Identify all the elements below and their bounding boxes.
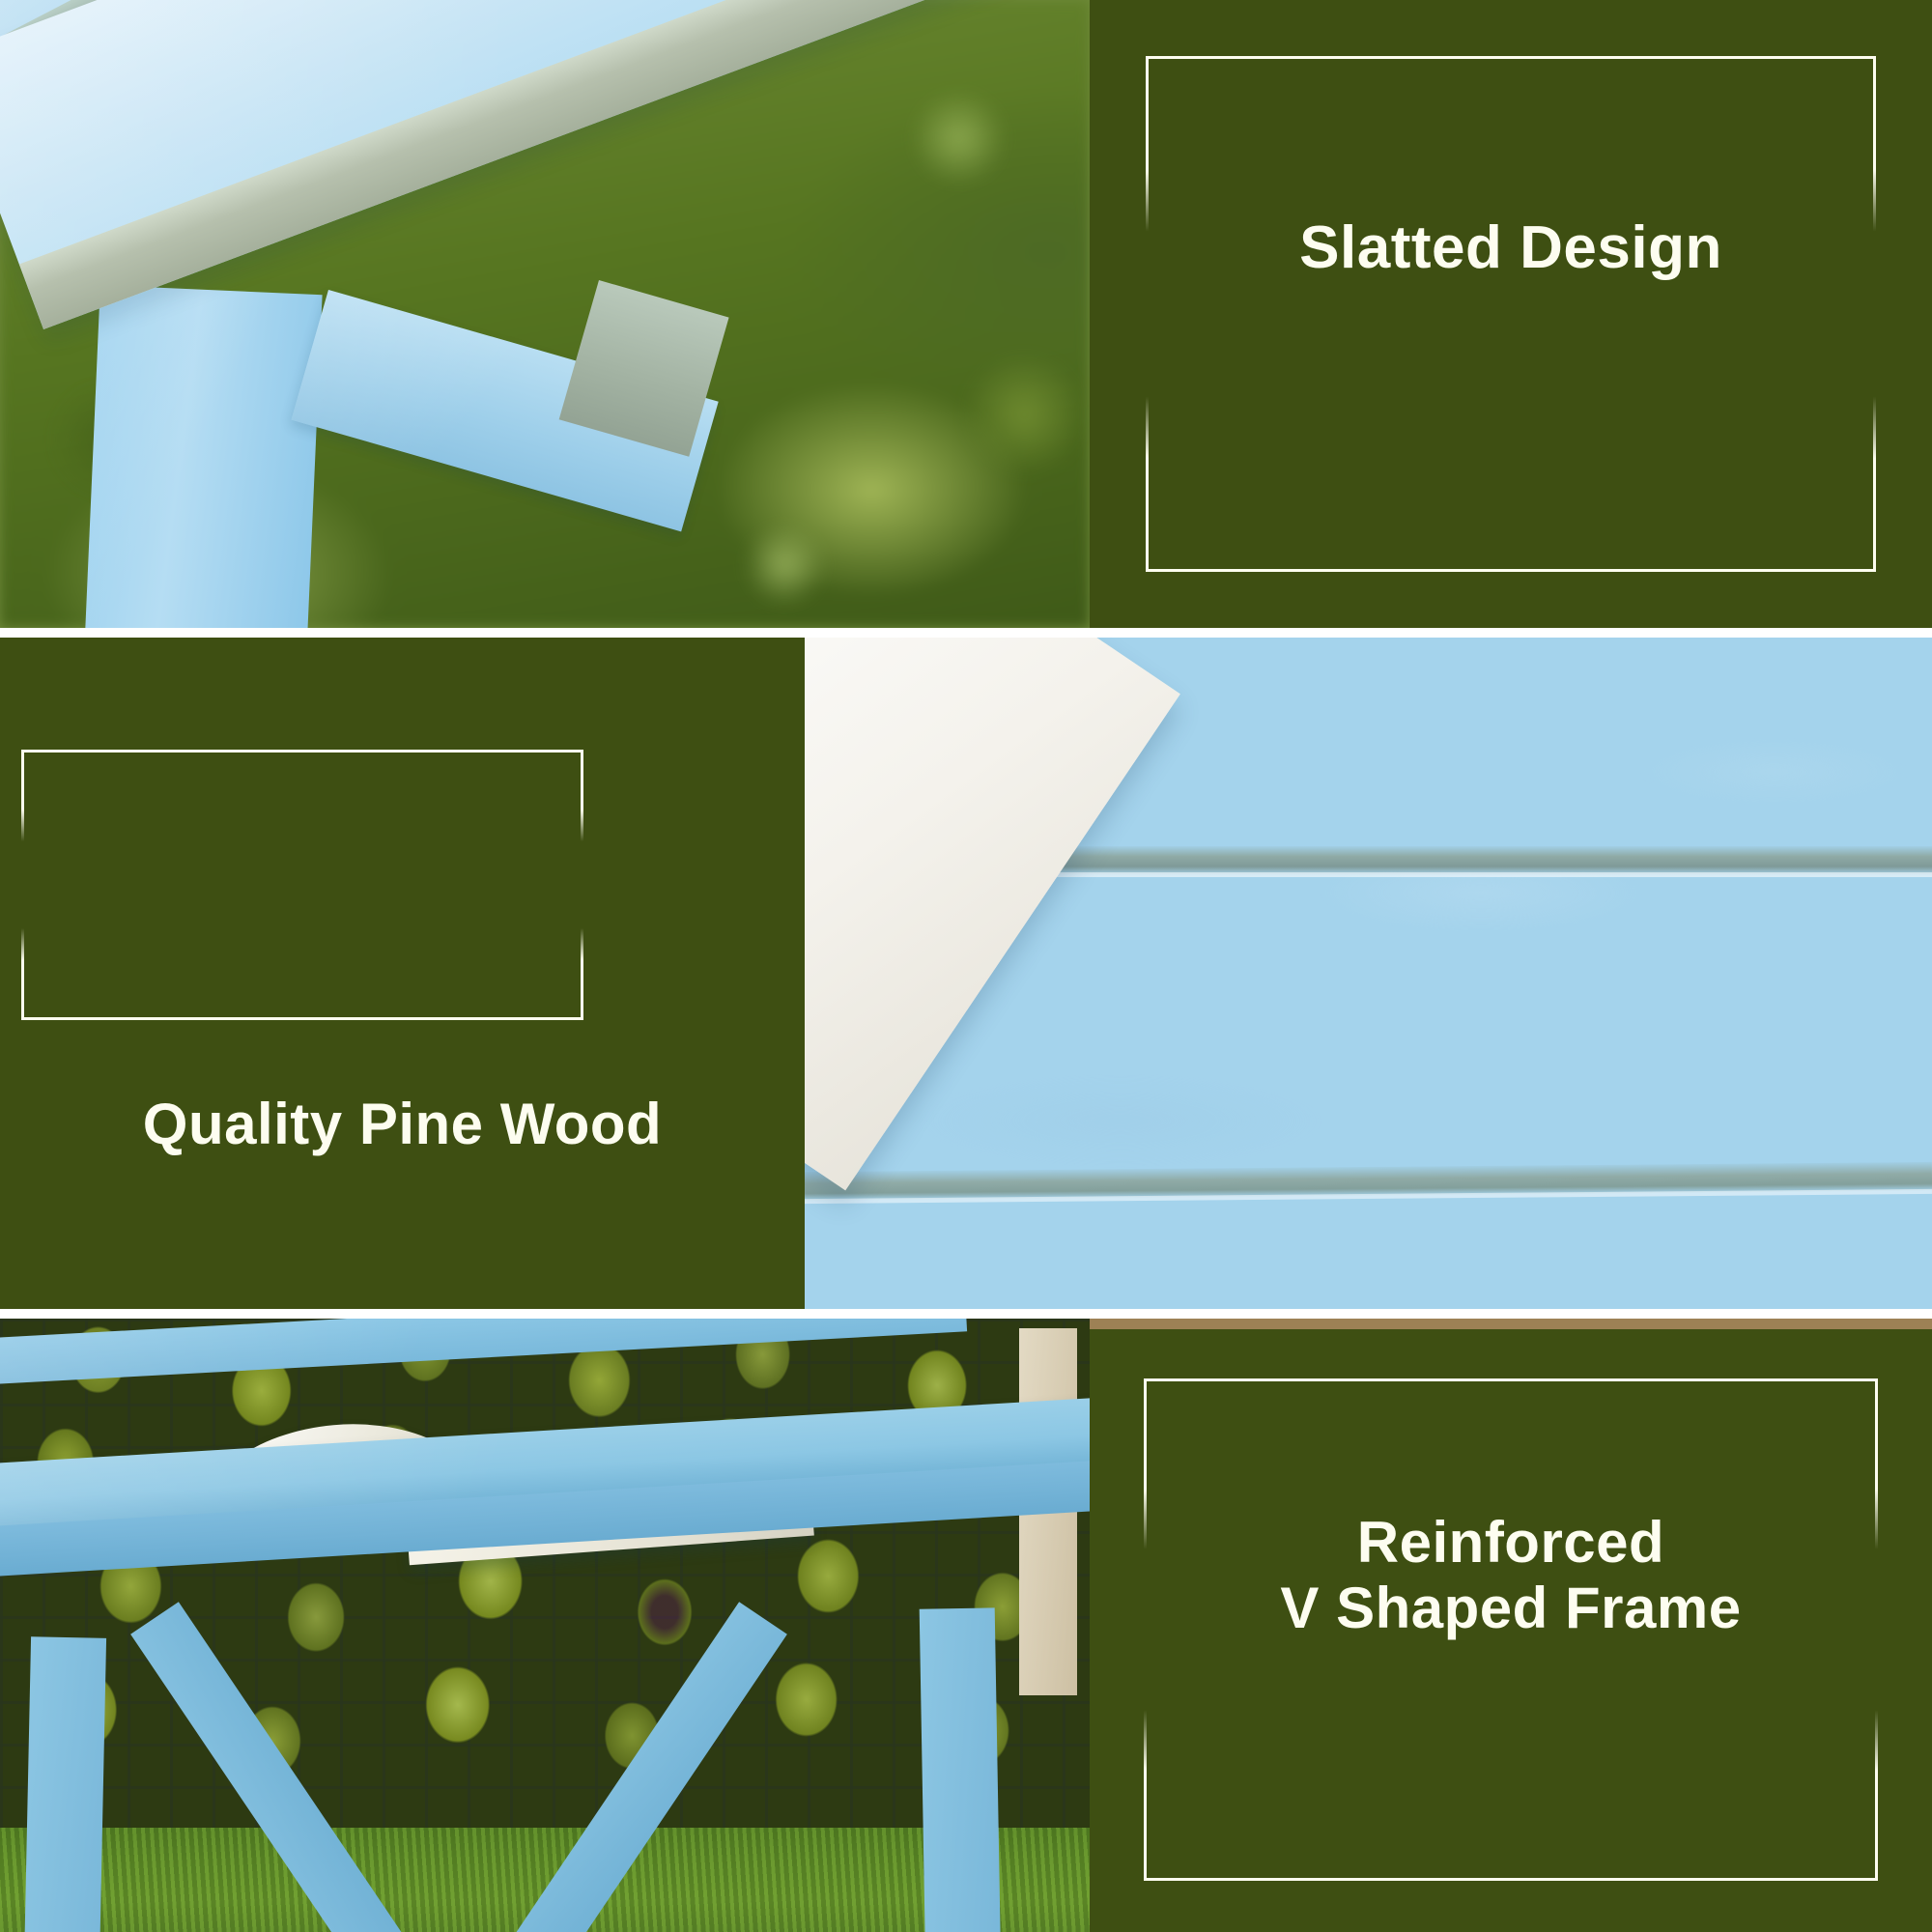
- headline-line-2: V Shaped Frame: [1090, 1576, 1932, 1641]
- wood-edge-strip: [1090, 1319, 1932, 1329]
- card-slatted-design: Slatted Design: [1090, 0, 1932, 628]
- headline-quality-pine-wood: Quality Pine Wood: [0, 1092, 805, 1157]
- bench-leg: [83, 285, 322, 628]
- card-reinforced-v-shaped-frame: Reinforced V Shaped Frame: [1090, 1319, 1932, 1932]
- headline-slatted-design: Slatted Design: [1090, 214, 1932, 283]
- headline-line-1: Reinforced: [1090, 1510, 1932, 1576]
- corner-bracket-frame: [21, 750, 583, 1020]
- feature-collage: Slatted Design Quality Pine Wood rspilli…: [0, 0, 1932, 1932]
- headline-reinforced-v-shaped-frame: Reinforced V Shaped Frame: [1090, 1510, 1932, 1642]
- photo-bench-slats-with-book: rspilling e have: [805, 638, 1932, 1309]
- bench-leg-left: [23, 1636, 106, 1932]
- photo-bench-corner-closeup: [0, 0, 1090, 628]
- photo-bench-full-with-ivy: [0, 1319, 1090, 1932]
- bench-leg-right: [920, 1607, 1002, 1932]
- card-quality-pine-wood: Quality Pine Wood: [0, 638, 805, 1309]
- corner-bracket-frame: [1146, 56, 1876, 572]
